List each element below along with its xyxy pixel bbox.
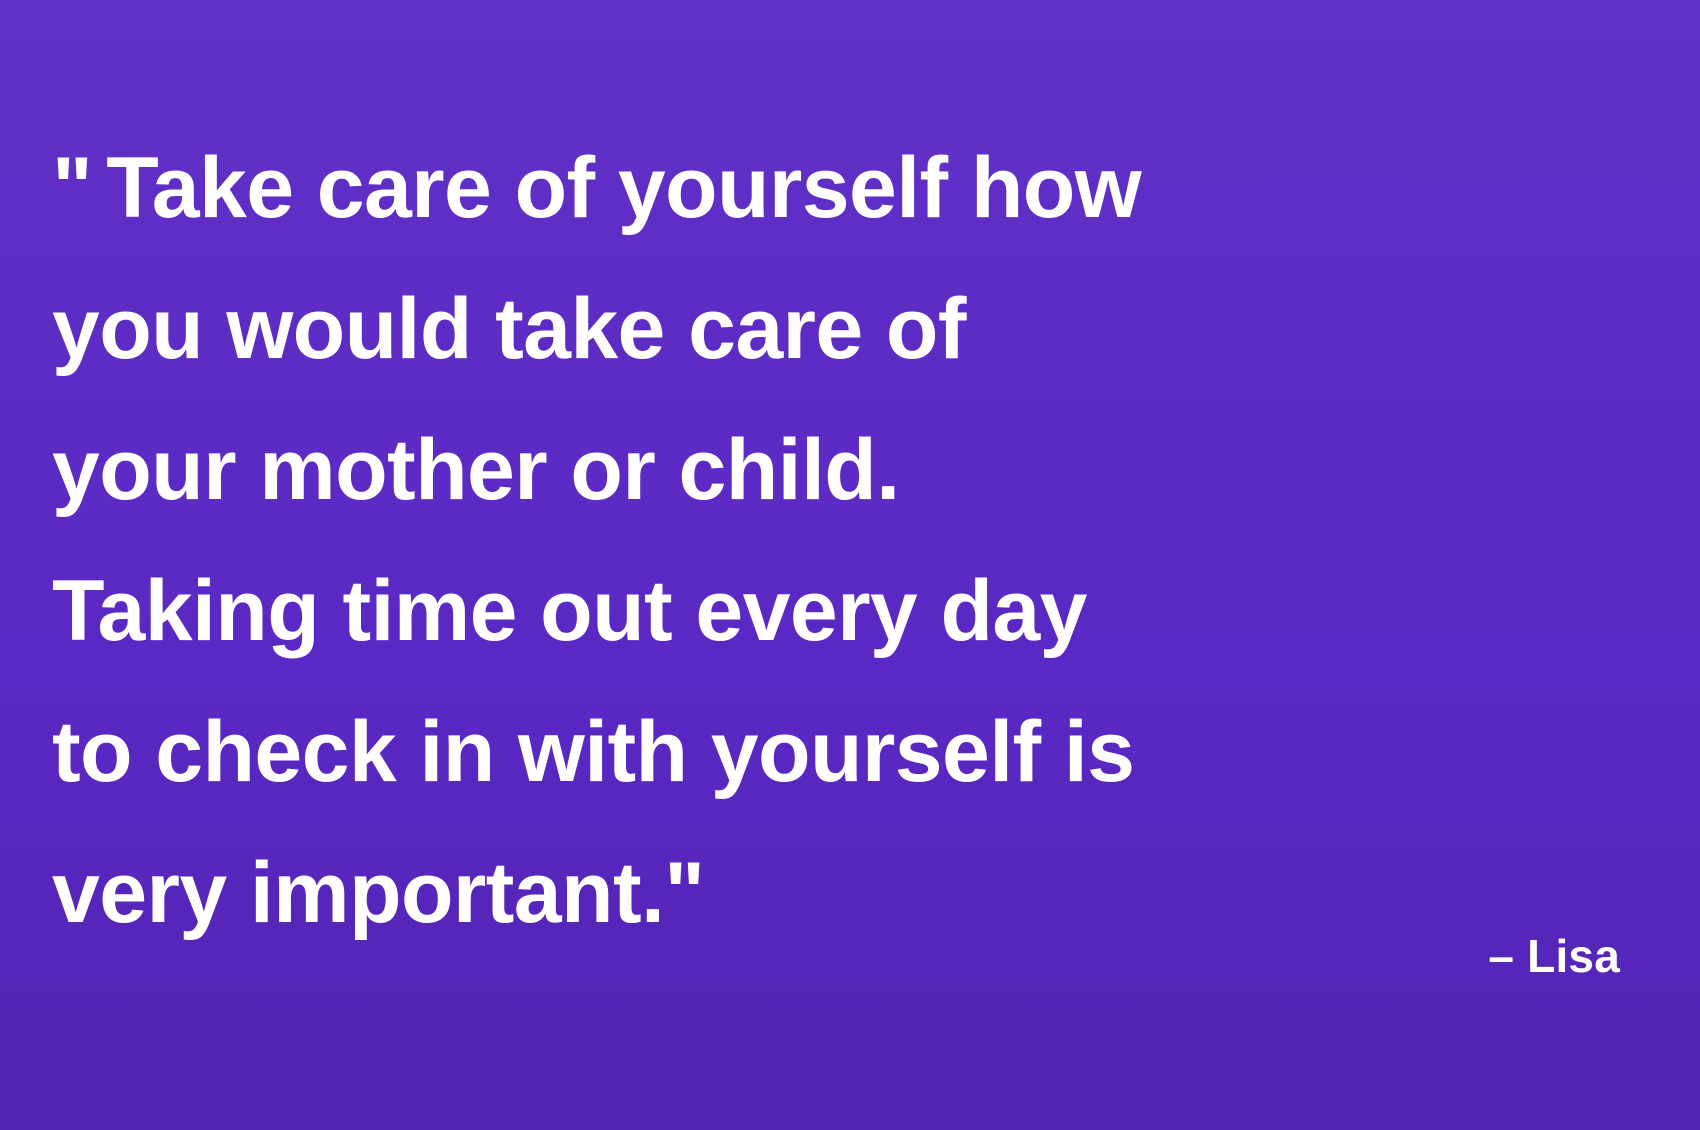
quote-card: "Take care of yourself how you would tak…	[0, 0, 1700, 1130]
quote-line-4: Taking time out every day	[52, 541, 1342, 682]
quote-line-1: "Take care of yourself how	[52, 118, 1342, 259]
quote-line-2: you would take care of	[52, 259, 1342, 400]
quote-attribution: – Lisa	[1488, 928, 1620, 984]
quote-line-6: very important."	[52, 823, 1342, 964]
quote-text-block: "Take care of yourself how you would tak…	[52, 118, 1342, 964]
quote-line-3: your mother or child.	[52, 400, 1342, 541]
quote-line-1-text: Take care of yourself how	[106, 140, 1141, 236]
quote-line-5: to check in with yourself is	[52, 682, 1342, 823]
open-quote-mark: "	[52, 118, 92, 259]
